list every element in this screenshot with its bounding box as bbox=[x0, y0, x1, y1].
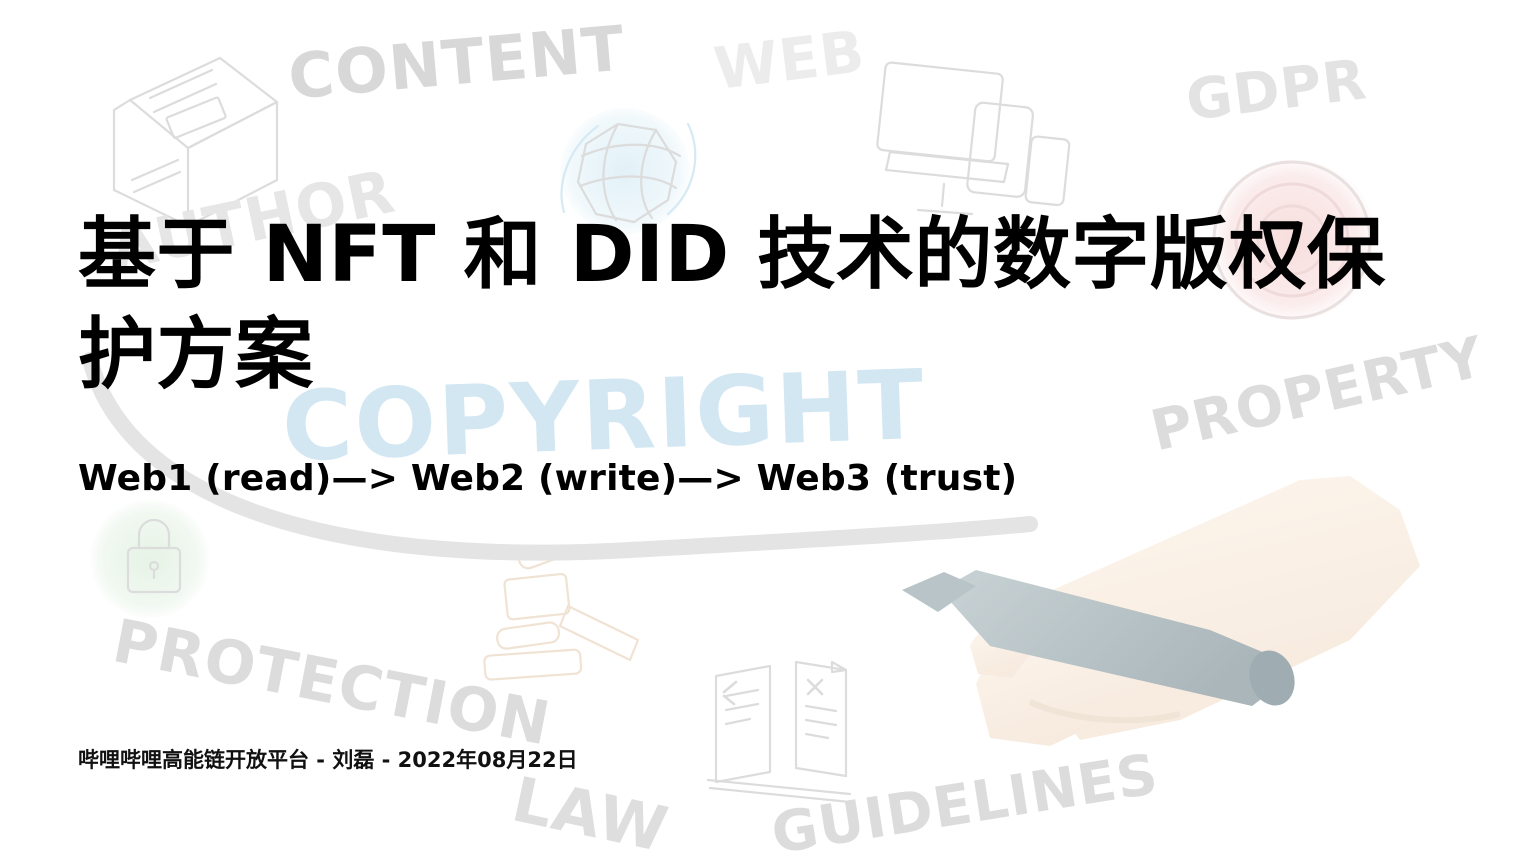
page-title: 基于 NFT 和 DID 技术的数字版权保护方案 bbox=[78, 206, 1448, 406]
presentation-slide: CONTENT WEB GDPR AUTHOR COPYRIGHT PROPER… bbox=[0, 0, 1532, 854]
slide-subtitle: Web1 (read)—> Web2 (write)—> Web3 (trust… bbox=[78, 458, 1017, 499]
slide-footer: 哔哩哔哩高能链开放平台 - 刘磊 - 2022年08月22日 bbox=[78, 744, 578, 774]
slide-content: 基于 NFT 和 DID 技术的数字版权保护方案 Web1 (read)—> W… bbox=[78, 0, 1532, 854]
